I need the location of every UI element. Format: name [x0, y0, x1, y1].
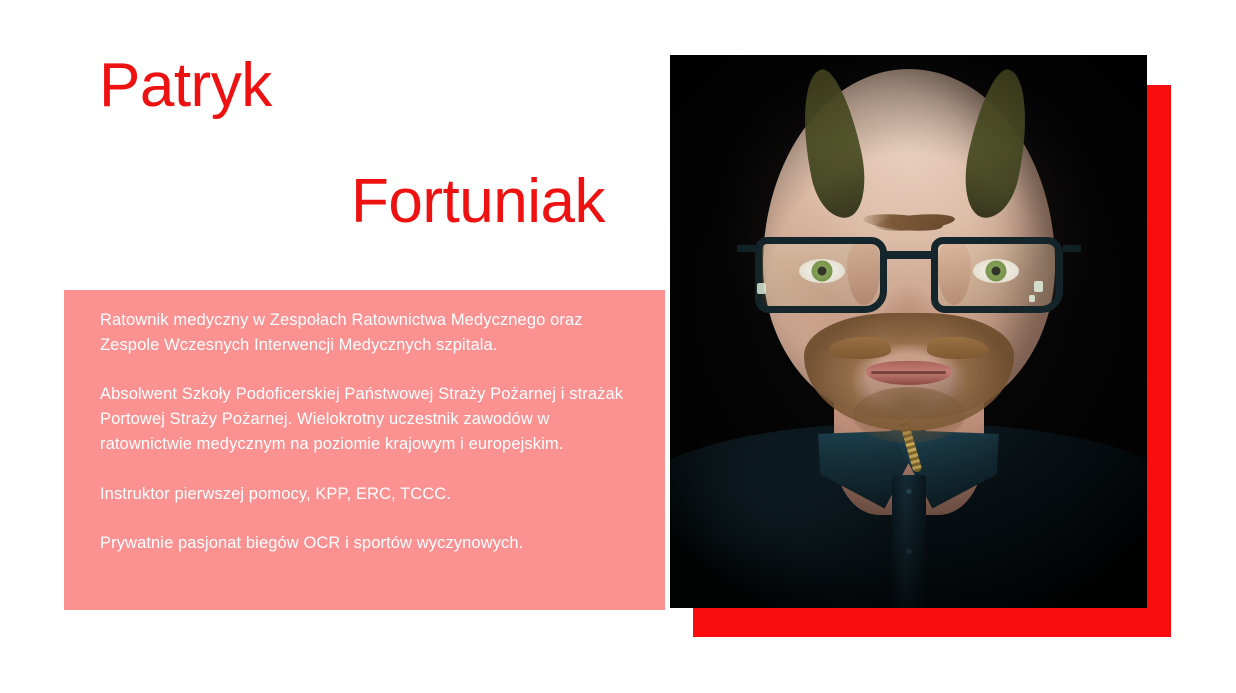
bio-paragraph: Absolwent Szkoły Podoficerskiej Państwow… [100, 382, 640, 456]
portrait-photo [670, 55, 1147, 608]
presentation-slide: Patryk Fortuniak [0, 0, 1236, 693]
lens-right [931, 237, 1063, 313]
bio-panel: Ratownik medyczny w Zespołach Ratownictw… [64, 290, 665, 610]
accent-bar-vertical [1146, 85, 1171, 637]
mustache-right [927, 337, 989, 359]
page-title-first-name: Patryk [99, 52, 272, 120]
bio-paragraph: Ratownik medyczny w Zespołach Ratownictw… [100, 308, 640, 358]
glasses-bridge [882, 251, 936, 259]
mustache-left [829, 337, 891, 359]
head-shape [763, 69, 1055, 419]
lens-reflection-b [1034, 281, 1043, 292]
accent-bar-horizontal [693, 608, 1171, 637]
glasses-temple-right [1063, 245, 1081, 252]
bio-paragraph: Prywatnie pasjonat biegów OCR i sportów … [100, 531, 640, 556]
lens-left [755, 237, 887, 313]
bio-paragraph: Instruktor pierwszej pomocy, KPP, ERC, T… [100, 482, 640, 507]
chin-beard [853, 387, 965, 443]
page-title-last-name: Fortuniak [351, 168, 605, 236]
glasses-temple-left [737, 245, 755, 252]
lens-reflection-a [757, 283, 766, 294]
polo-placket [892, 475, 926, 608]
lens-reflection-c [1029, 295, 1035, 302]
